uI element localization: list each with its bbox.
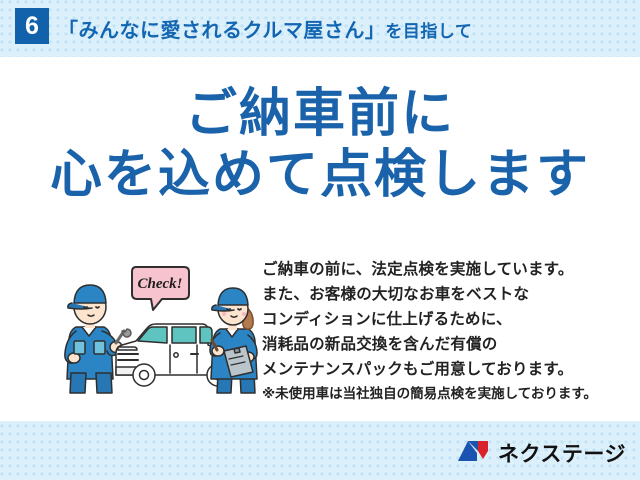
promo-banner: 6 「みんなに愛されるクルマ屋さん」を目指して ご納車前に 心を込めて点検します…: [0, 0, 640, 480]
body-note: ※未使用車は当社独自の簡易点検を実施しております。: [262, 383, 628, 405]
section-number-badge: 6: [15, 8, 49, 44]
body-line-1: ご納車の前に、法定点検を実施しています。: [262, 257, 628, 282]
n-mark-icon: [457, 439, 491, 468]
header: 6 「みんなに愛されるクルマ屋さん」を目指して: [0, 0, 640, 57]
body-line-2: また、お客様の大切なお車をベストな: [262, 282, 628, 307]
mechanics-illustration: Check!: [58, 255, 263, 395]
page-title: ご納車前に 心を込めて点検します: [0, 87, 640, 203]
brand-name: ネクステージ: [498, 438, 626, 468]
content-panel: ご納車前に 心を込めて点検します ご納車の前に、法定点検を実施しています。 また…: [0, 57, 640, 421]
page-title-line2: 心を込めて点検します: [0, 148, 640, 203]
page-title-line1: ご納車前に: [0, 87, 640, 142]
header-title-quoted: 「みんなに愛されるクルマ屋さん」: [58, 20, 385, 42]
body-line-5: メンテナンスパックもご用意しております。: [262, 357, 628, 382]
check-bubble-label: Check!: [138, 276, 183, 292]
body-line-3: コンディションに仕上げるために、: [262, 307, 628, 332]
body-copy: ご納車の前に、法定点検を実施しています。 また、お客様の大切なお車をベストな コ…: [262, 257, 628, 404]
male-mechanic: [65, 285, 131, 393]
brand-logo: ネクステージ: [457, 438, 626, 468]
header-title: 「みんなに愛されるクルマ屋さん」を目指して: [58, 14, 472, 43]
body-line-4: 消耗品の新品交換を含んだ有償の: [262, 332, 628, 357]
header-title-tail: を目指して: [385, 22, 472, 41]
female-mechanic: [210, 288, 257, 393]
